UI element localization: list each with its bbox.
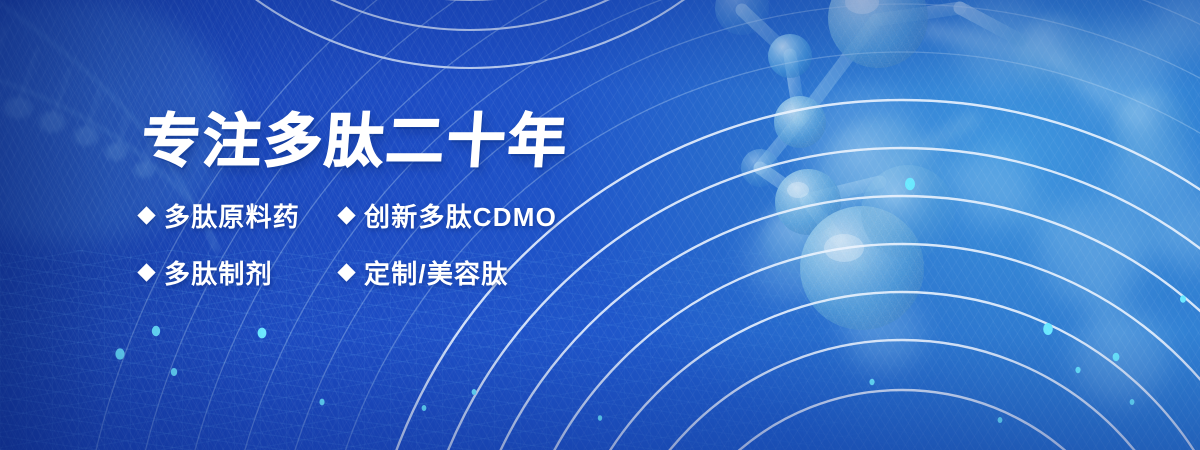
- diamond-bullet-icon: [137, 206, 155, 224]
- feature-list: 多肽原料药 创新多肽CDMO 多肽制剂 定制/美容肽: [140, 197, 760, 291]
- diamond-bullet-icon: [137, 263, 155, 281]
- page-title: 专注多肽二十年: [140, 112, 764, 171]
- feature-item-peptide-api: 多肽原料药: [140, 197, 340, 234]
- banner-content: 专注多肽二十年 多肽原料药 创新多肽CDMO 多肽制剂 定制/美容肽: [140, 112, 760, 291]
- feature-item-innovative-cdmo: 创新多肽CDMO: [340, 197, 760, 234]
- feature-item-custom-cosmetic: 定制/美容肽: [340, 254, 760, 291]
- feature-label: 创新多肽CDMO: [364, 197, 557, 234]
- feature-label: 多肽制剂: [164, 254, 273, 291]
- feature-item-peptide-formulation: 多肽制剂: [140, 254, 340, 291]
- feature-label: 定制/美容肽: [364, 254, 508, 291]
- hero-banner: 专注多肽二十年 多肽原料药 创新多肽CDMO 多肽制剂 定制/美容肽: [0, 0, 1200, 450]
- feature-label: 多肽原料药: [164, 197, 300, 234]
- diamond-bullet-icon: [337, 206, 355, 224]
- diamond-bullet-icon: [337, 263, 355, 281]
